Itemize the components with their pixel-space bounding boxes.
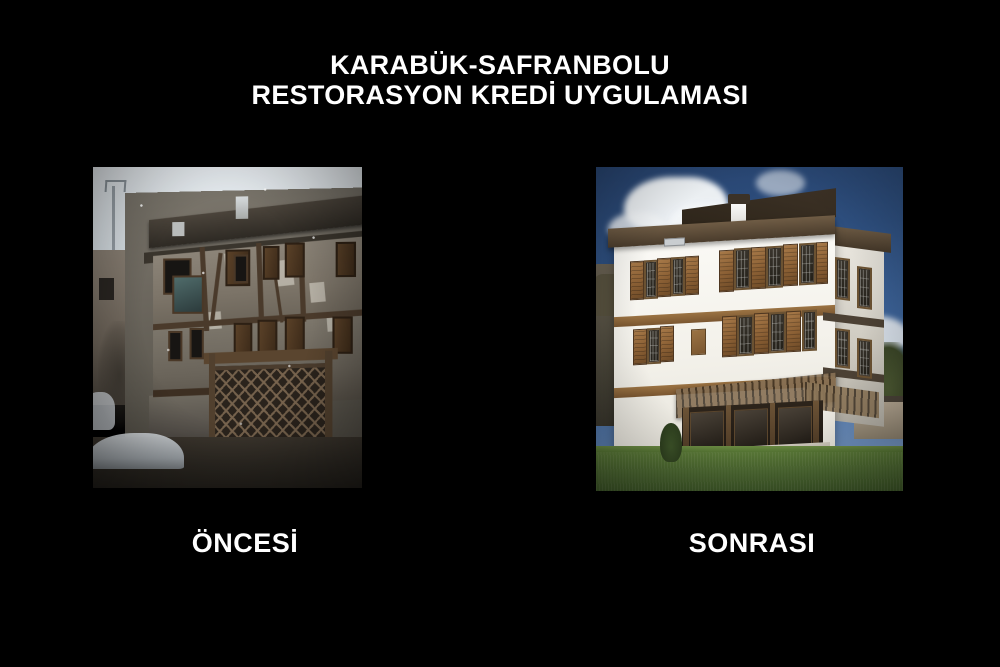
snow-patch: [93, 392, 115, 431]
window-shutter: [783, 244, 798, 287]
title-line-2: RESTORASYON KREDİ UYGULAMASI: [0, 80, 1000, 110]
window-shutter: [754, 313, 769, 354]
window-shutter: [335, 242, 355, 277]
before-photo: [93, 167, 362, 488]
window-shutter: [657, 258, 671, 298]
cloud: [756, 170, 805, 196]
window: [769, 312, 786, 353]
window: [671, 257, 685, 297]
window: [233, 255, 248, 283]
window: [647, 327, 661, 363]
wall-plaque: [691, 329, 706, 356]
window-shutter: [285, 243, 305, 277]
lawn: [596, 449, 903, 491]
porch-glazing: [734, 408, 768, 448]
window-shutter: [786, 310, 801, 351]
chimney: [236, 195, 248, 218]
presentation-slide: KARABÜK-SAFRANBOLU RESTORASYON KREDİ UYG…: [0, 0, 1000, 667]
window: [190, 328, 205, 359]
window: [857, 338, 872, 379]
window: [799, 243, 816, 286]
window-shutter: [660, 326, 674, 362]
window: [802, 309, 817, 350]
window-shutter: [816, 242, 828, 285]
snow-pile: [93, 433, 184, 468]
porch-glazing: [690, 410, 724, 450]
window-shutter: [722, 316, 737, 357]
window: [737, 314, 754, 355]
title-line-1: KARABÜK-SAFRANBOLU: [0, 50, 1000, 80]
window: [857, 266, 872, 310]
window: [766, 245, 783, 288]
window: [644, 259, 658, 299]
window: [734, 248, 751, 291]
porch-glazing: [778, 406, 812, 446]
window: [168, 331, 182, 362]
before-photo-content: [93, 167, 362, 488]
window: [835, 257, 850, 301]
window-shutter: [751, 247, 766, 290]
caption-before: ÖNCESİ: [95, 528, 395, 559]
window-shutter: [633, 329, 647, 365]
after-photo: [596, 167, 903, 491]
plaster-patch: [309, 282, 326, 303]
window-shutter: [685, 255, 699, 295]
window-shutter: [719, 249, 734, 292]
shrub: [660, 423, 681, 462]
caption-after: SONRASI: [602, 528, 902, 559]
after-photo-content: [596, 167, 903, 491]
window-shutter: [630, 261, 644, 301]
derelict-house: [125, 187, 362, 474]
secondary-chimney: [173, 222, 185, 236]
window-shutter: [263, 246, 280, 280]
window: [173, 275, 204, 314]
page-title: KARABÜK-SAFRANBOLU RESTORASYON KREDİ UYG…: [0, 50, 1000, 110]
roof-vent: [664, 238, 685, 248]
window-shutter: [285, 316, 305, 353]
window: [835, 328, 850, 369]
